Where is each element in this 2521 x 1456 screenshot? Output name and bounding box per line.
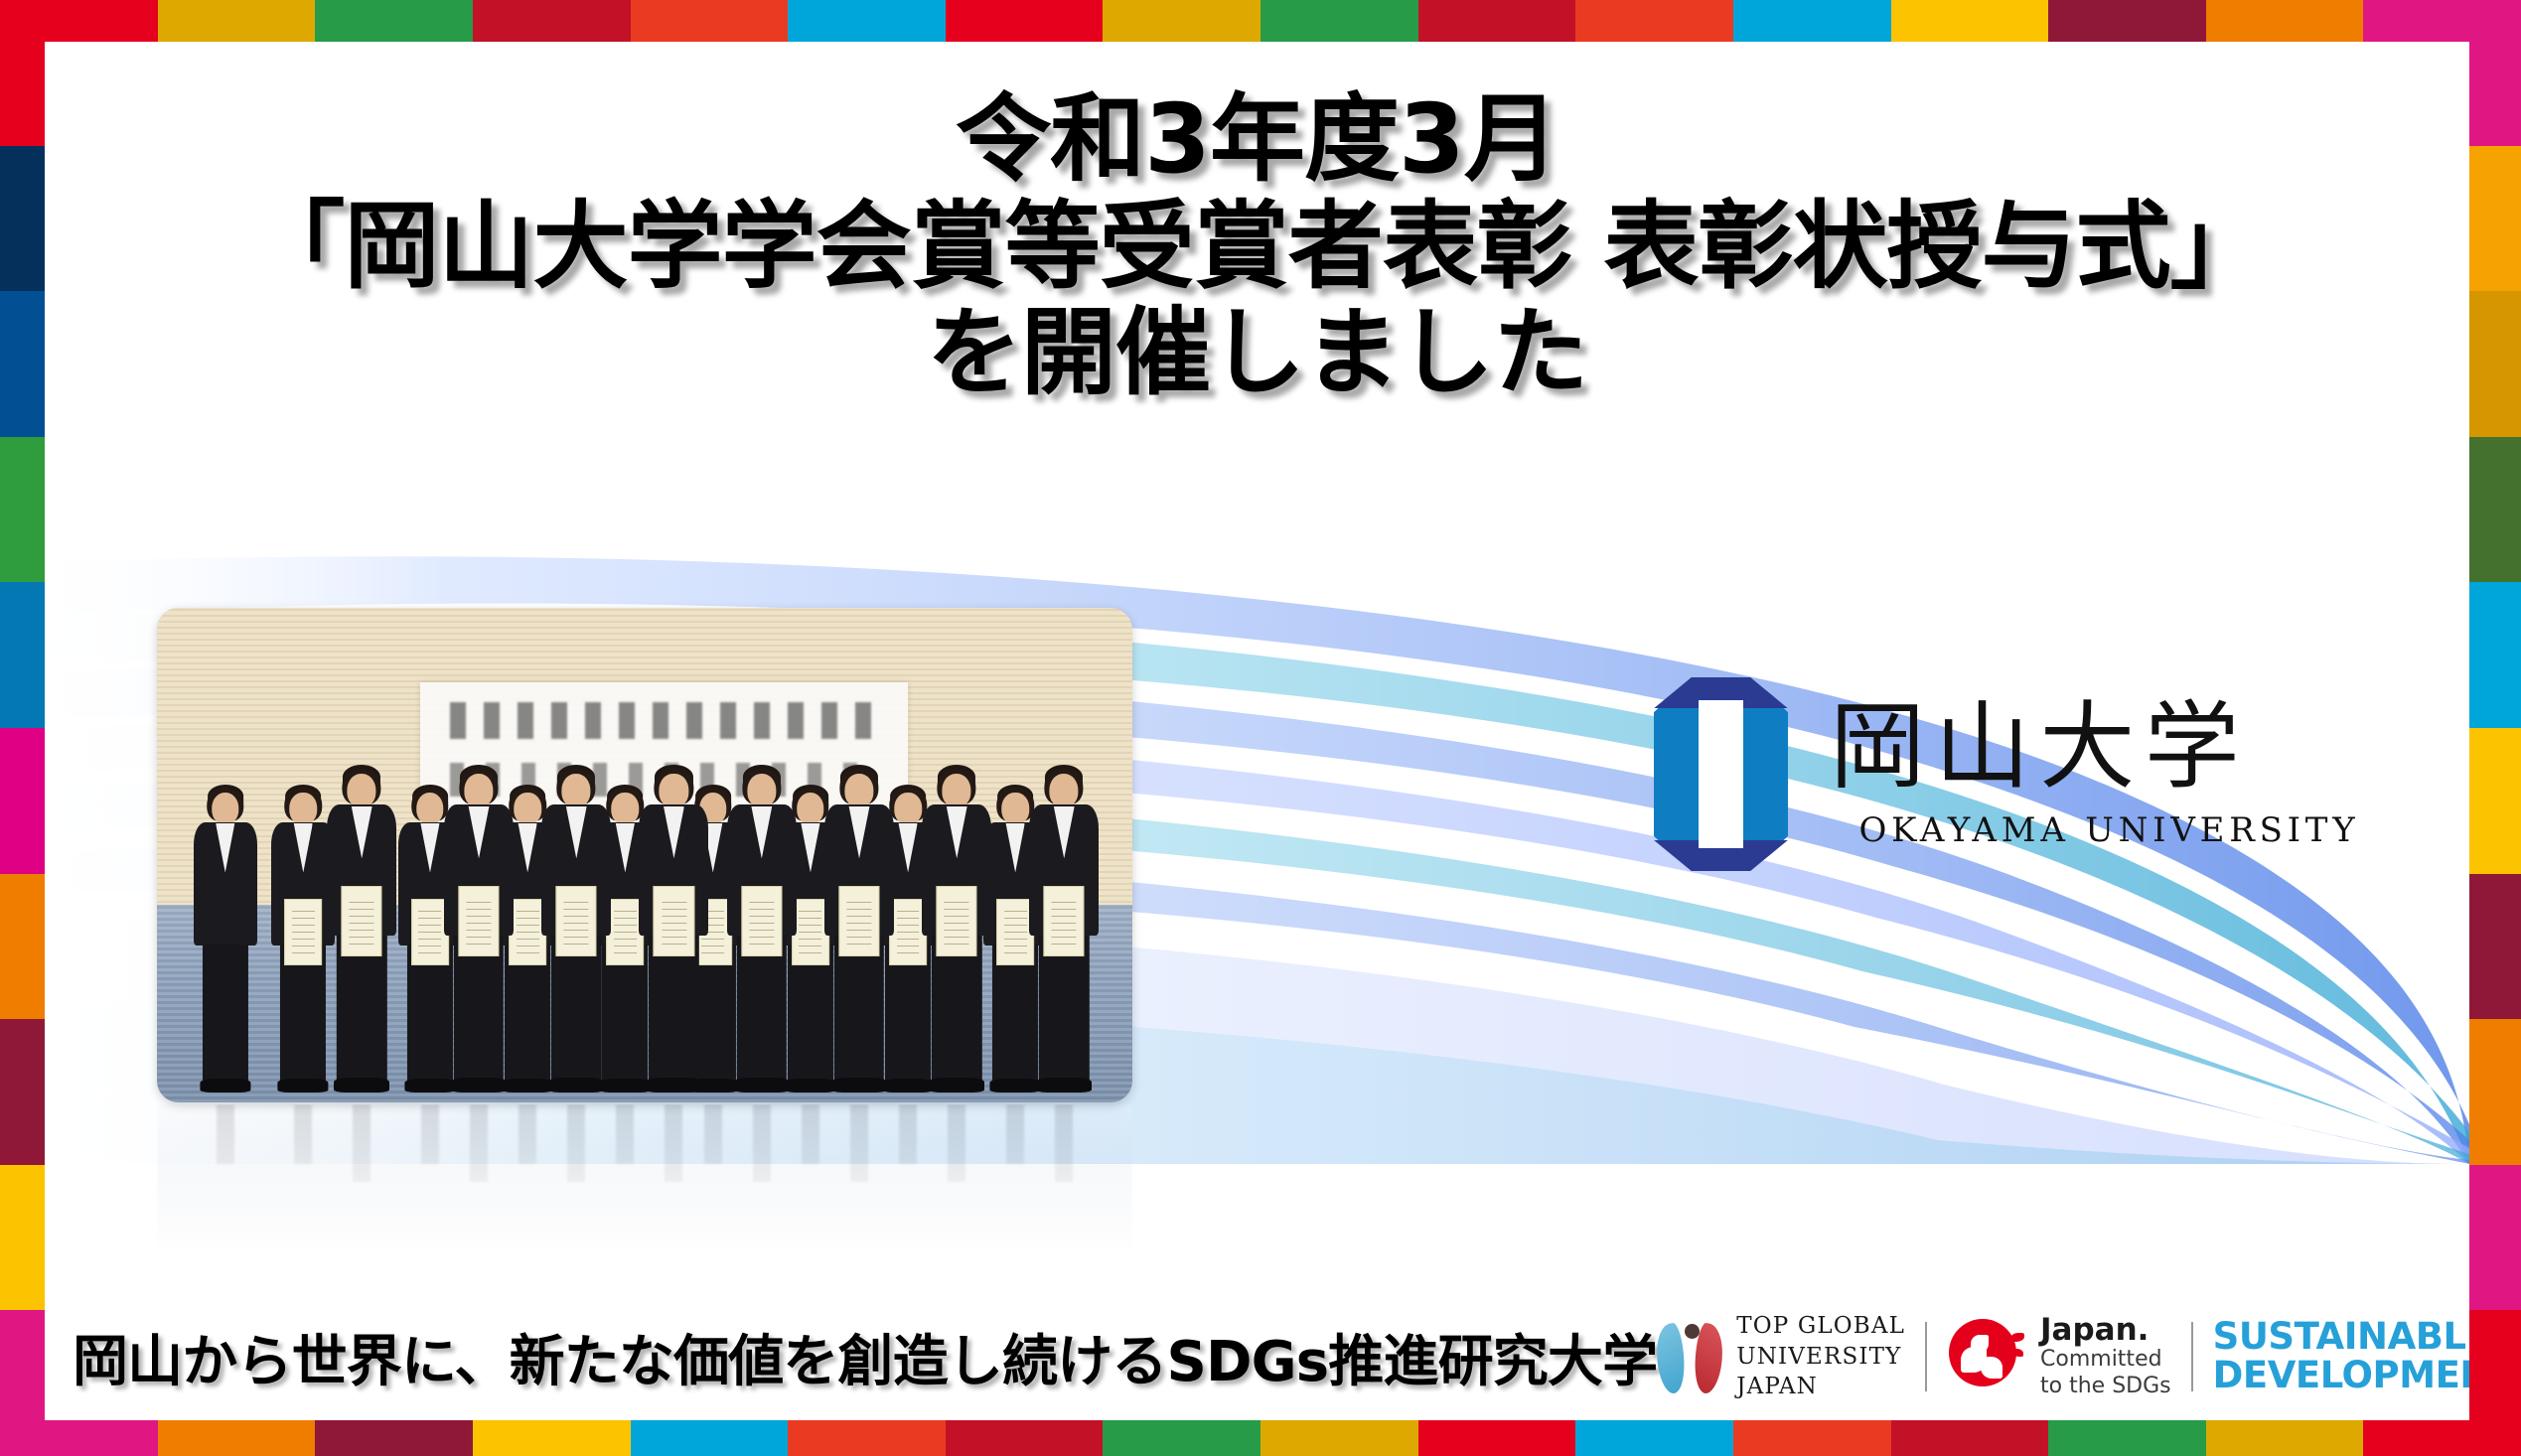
photo-person bbox=[1029, 765, 1099, 1092]
sdg-border-segment bbox=[1733, 0, 1891, 42]
japan-sdgs-sub-1: Committed bbox=[2040, 1347, 2171, 1374]
reflection-leg bbox=[1006, 1104, 1024, 1164]
content-card: 令和3年度3月 「岡山大学学会賞等受賞者表彰 表彰状授与式」 を開催しました bbox=[45, 42, 2469, 1420]
photo-person bbox=[271, 785, 335, 1092]
reflection-leg bbox=[217, 1104, 234, 1164]
sdg-border-bottom bbox=[0, 1420, 2521, 1456]
sdg-border-segment bbox=[2048, 0, 2206, 42]
sdg-border-segment bbox=[946, 0, 1104, 42]
sdg-border-segment bbox=[2469, 1019, 2521, 1165]
sdg-border-segment bbox=[2206, 0, 2364, 42]
sdg-border-segment bbox=[1103, 1420, 1260, 1456]
photo-person bbox=[327, 765, 396, 1092]
sdg-border-segment bbox=[788, 1420, 946, 1456]
reflection-leg bbox=[294, 1104, 312, 1164]
tgu-line-3: JAPAN bbox=[1736, 1372, 1905, 1401]
reflection-leg bbox=[519, 1104, 536, 1164]
reflection-leg bbox=[850, 1104, 868, 1182]
reflection-leg bbox=[567, 1104, 585, 1182]
sdg-border-segment bbox=[2206, 1420, 2364, 1456]
tgu-line-1: TOP GLOBAL bbox=[1736, 1311, 1905, 1341]
photo-person bbox=[541, 765, 611, 1092]
photo-reflection bbox=[157, 1104, 1132, 1253]
photo-person bbox=[444, 765, 514, 1092]
sdg-border-segment bbox=[2469, 437, 2521, 583]
sdg-border-segment bbox=[158, 1420, 316, 1456]
sdg-border-segment bbox=[1260, 0, 1418, 42]
sdg-border-segment bbox=[631, 0, 789, 42]
reflection-leg bbox=[470, 1104, 488, 1182]
reflection-leg bbox=[616, 1104, 634, 1164]
sdg-border-segment bbox=[788, 0, 946, 42]
photo-person bbox=[194, 785, 257, 1092]
japan-sdgs-logo: Japan. Committed to the SDGs bbox=[1947, 1313, 2171, 1400]
reflection-leg bbox=[1055, 1104, 1073, 1182]
sdg-border-segment bbox=[315, 0, 473, 42]
reflection-leg bbox=[665, 1104, 682, 1182]
sdg-border-segment bbox=[1891, 0, 2049, 42]
title-line-2: 「岡山大学学会賞等受賞者表彰 表彰状授与式」 bbox=[45, 194, 2469, 301]
sdg-border-segment bbox=[1575, 0, 1733, 42]
footer-tagline: 岡山から世界に、新たな価値を創造し続けるSDGs推進研究大学 bbox=[73, 1317, 1657, 1397]
sdg-border-top bbox=[0, 0, 2521, 42]
sdg-border-segment bbox=[473, 0, 631, 42]
title-line-1: 令和3年度3月 bbox=[45, 86, 2469, 194]
sdg-border-segment bbox=[1575, 1420, 1733, 1456]
photo-person bbox=[922, 765, 991, 1092]
slide-root: 令和3年度3月 「岡山大学学会賞等受賞者表彰 表彰状授与式」 を開催しました bbox=[0, 0, 2521, 1456]
reflection-leg bbox=[802, 1104, 819, 1164]
butterfly-icon bbox=[1657, 1318, 1722, 1395]
sdg-border-segment bbox=[473, 1420, 631, 1456]
reflection-leg bbox=[948, 1104, 965, 1182]
sdg-border-segment bbox=[946, 1420, 1104, 1456]
sdg-border-segment bbox=[1733, 1420, 1891, 1456]
japan-sdgs-main: Japan. bbox=[2040, 1313, 2171, 1347]
sdg-border-segment bbox=[631, 1420, 789, 1456]
sdg-border-segment bbox=[0, 728, 45, 874]
footer-bar: 岡山から世界に、新たな価値を創造し続けるSDGs推進研究大学 TOP GLOBA… bbox=[45, 1309, 2469, 1404]
sdg-border-segment bbox=[0, 1310, 45, 1456]
reflection-leg bbox=[353, 1104, 371, 1182]
sdg-border-segment bbox=[1260, 1420, 1418, 1456]
sdg-border-segment bbox=[0, 291, 45, 437]
sdg-border-segment bbox=[2469, 582, 2521, 728]
footer-logo-group: TOP GLOBAL UNIVERSITY JAPAN bbox=[1657, 1311, 2469, 1402]
sdg-border-segment bbox=[2469, 146, 2521, 292]
sdg-border-segment bbox=[315, 1420, 473, 1456]
sdg-word-sustainable: SUSTAINABLE bbox=[2213, 1318, 2469, 1357]
japan-sdgs-sub-2: to the SDGs bbox=[2040, 1374, 2171, 1400]
reflection-leg bbox=[704, 1104, 722, 1164]
sdg-border-segment bbox=[2048, 1420, 2206, 1456]
sdg-goals-logo: SUSTAINABLE DEVELOPMENT G ALS bbox=[2213, 1318, 2469, 1395]
sdg-border-segment bbox=[2469, 291, 2521, 437]
sdg-border-segment bbox=[0, 1165, 45, 1311]
sdg-border-segment bbox=[0, 582, 45, 728]
sdg-border-segment bbox=[1103, 0, 1260, 42]
sdg-border-segment bbox=[0, 874, 45, 1020]
photo-person bbox=[639, 765, 708, 1092]
sdg-border-segment bbox=[0, 0, 45, 146]
top-global-university-logo: TOP GLOBAL UNIVERSITY JAPAN bbox=[1657, 1311, 1905, 1401]
sdg-border-segment bbox=[158, 0, 316, 42]
sdg-border-right bbox=[2469, 0, 2521, 1456]
page-title: 令和3年度3月 「岡山大学学会賞等受賞者表彰 表彰状授与式」 を開催しました bbox=[45, 86, 2469, 407]
university-name-en: OKAYAMA UNIVERSITY bbox=[1830, 810, 2389, 850]
sdg-border-segment bbox=[1418, 1420, 1576, 1456]
sdg-border-segment bbox=[0, 437, 45, 583]
sdg-border-segment bbox=[0, 146, 45, 292]
title-line-3: を開催しました bbox=[45, 300, 2469, 407]
reflection-leg bbox=[421, 1104, 439, 1164]
sdg-border-segment bbox=[1891, 1420, 2049, 1456]
reflection-leg bbox=[753, 1104, 771, 1182]
photo-person bbox=[727, 765, 797, 1092]
sdg-border-left bbox=[0, 0, 45, 1456]
sdg-word-development: DEVELOPMENT bbox=[2213, 1357, 2469, 1395]
reflection-leg bbox=[899, 1104, 917, 1164]
logo-divider-1 bbox=[1925, 1322, 1927, 1391]
okayama-u-mark-icon bbox=[1654, 677, 1788, 871]
university-name-jp: 岡山大学 bbox=[1830, 699, 2389, 795]
sdg-border-segment bbox=[0, 1019, 45, 1165]
photo-person bbox=[824, 765, 894, 1092]
sdg-border-segment bbox=[2469, 1310, 2521, 1456]
sdg-border-segment bbox=[2469, 728, 2521, 874]
okayama-university-logo: 岡山大学 OKAYAMA UNIVERSITY bbox=[1654, 657, 2389, 891]
sdg-border-segment bbox=[1418, 0, 1576, 42]
sdg-border-segment bbox=[2469, 0, 2521, 146]
sdg-border-segment bbox=[2469, 1165, 2521, 1311]
sakura-sun-icon bbox=[1947, 1317, 2026, 1396]
logo-divider-2 bbox=[2191, 1322, 2193, 1391]
tgu-line-2: UNIVERSITY bbox=[1736, 1342, 1905, 1372]
group-photo bbox=[157, 608, 1132, 1102]
sdg-border-segment bbox=[2469, 874, 2521, 1020]
